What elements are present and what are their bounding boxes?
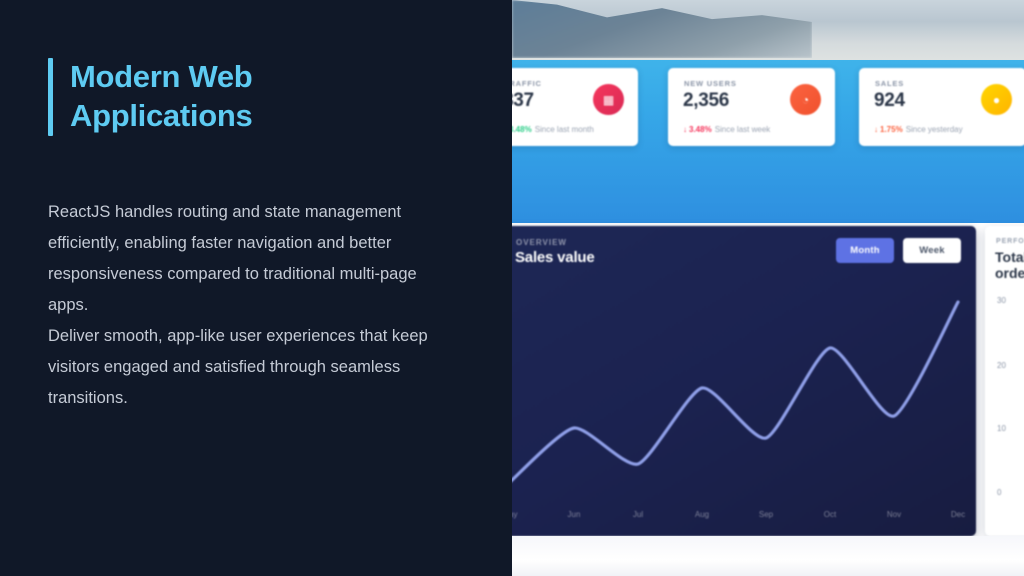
- page-title-line2: Applications: [70, 97, 252, 136]
- chart-bar-icon: ▦: [593, 84, 624, 115]
- stat-card-delta-pct: 3.48%: [689, 125, 712, 134]
- stat-card-delta: ↓1.75%Since yesterday: [874, 125, 963, 134]
- page-title-line1: Modern Web: [70, 59, 252, 94]
- side-panel-row: 0: [997, 488, 1001, 497]
- chart-x-axis: MayJunJulAugSepOctNovDec: [512, 510, 976, 524]
- stat-card-delta: ↓3.48%Since last week: [683, 125, 770, 134]
- stat-card-new-users[interactable]: NEW USERS 2,356 ↓3.48%Since last week ◔: [668, 68, 835, 146]
- chart-x-tick: Sep: [759, 510, 773, 519]
- dashboard-mockup-image: DASHBOARD Search TRAFFIC 837 ↑3.48%Since…: [512, 0, 1024, 576]
- stat-card-label: TRAFFIC: [512, 79, 542, 88]
- arrow-down-icon: ↓: [874, 125, 878, 134]
- paragraph-1: ReactJS handles routing and state manage…: [48, 197, 458, 321]
- stat-card-delta-pct: 1.75%: [880, 125, 903, 134]
- chart-x-tick: Jul: [633, 510, 643, 519]
- paragraph-2: Deliver smooth, app-like user experience…: [48, 321, 458, 414]
- chart-x-tick: Aug: [695, 510, 709, 519]
- stat-card-delta-since: Since last month: [535, 125, 594, 134]
- orders-side-panel: PERFORMANCE Total orders 30 20 10 0: [985, 226, 1024, 536]
- stat-card-value: 837: [512, 90, 534, 112]
- stat-card-sales[interactable]: SALES 924 ↓1.75%Since yesterday ●: [859, 68, 1024, 146]
- stat-card-delta-pct: 3.48%: [512, 125, 532, 134]
- chart-x-tick: May: [512, 510, 518, 519]
- page-title-block: Modern Web Applications: [48, 58, 468, 136]
- stat-card-traffic[interactable]: TRAFFIC 837 ↑3.48%Since last month ▦: [512, 68, 638, 146]
- arrow-down-icon: ↓: [683, 125, 687, 134]
- chart-toggle-week[interactable]: Week: [903, 238, 961, 263]
- chart-range-toggle-group: Month Week: [836, 238, 961, 263]
- chart-eyebrow: OVERVIEW: [516, 238, 567, 247]
- page-title: Modern Web Applications: [70, 58, 252, 136]
- slide-root: Modern Web Applications ReactJS handles …: [0, 0, 1024, 576]
- chart-title: Sales value: [515, 249, 595, 266]
- stat-card-label: SALES: [875, 79, 904, 88]
- side-panel-row: 10: [997, 424, 1006, 433]
- dashboard-footer-area: [512, 536, 1024, 576]
- chart-x-tick: Oct: [824, 510, 836, 519]
- side-panel-row: 30: [997, 296, 1006, 305]
- stat-card-value: 924: [874, 90, 905, 112]
- body-copy: ReactJS handles routing and state manage…: [48, 197, 458, 414]
- side-panel-row: 20: [997, 361, 1006, 370]
- chart-x-tick: Jun: [568, 510, 581, 519]
- sales-line-chart: [512, 278, 976, 508]
- title-accent-bar: [48, 58, 53, 136]
- chart-x-tick: Nov: [887, 510, 901, 519]
- left-content-panel: Modern Web Applications ReactJS handles …: [0, 0, 512, 576]
- stat-card-value: 2,356: [683, 90, 729, 112]
- side-panel-eyebrow: PERFORMANCE: [996, 238, 1024, 245]
- pie-chart-icon: ◔: [790, 84, 821, 115]
- stat-card-label: NEW USERS: [684, 79, 737, 88]
- side-panel-title: Total orders: [995, 249, 1024, 281]
- stat-card-delta-since: Since last week: [715, 125, 771, 134]
- stat-card-delta-since: Since yesterday: [906, 125, 963, 134]
- sales-chart-card: OVERVIEW Sales value Month Week MayJunJu…: [512, 226, 976, 536]
- stat-card-delta: ↑3.48%Since last month: [512, 125, 594, 134]
- users-icon: ●: [981, 84, 1012, 115]
- chart-x-tick: Dec: [951, 510, 965, 519]
- chart-line-path: [512, 302, 958, 482]
- chart-toggle-month[interactable]: Month: [836, 238, 894, 263]
